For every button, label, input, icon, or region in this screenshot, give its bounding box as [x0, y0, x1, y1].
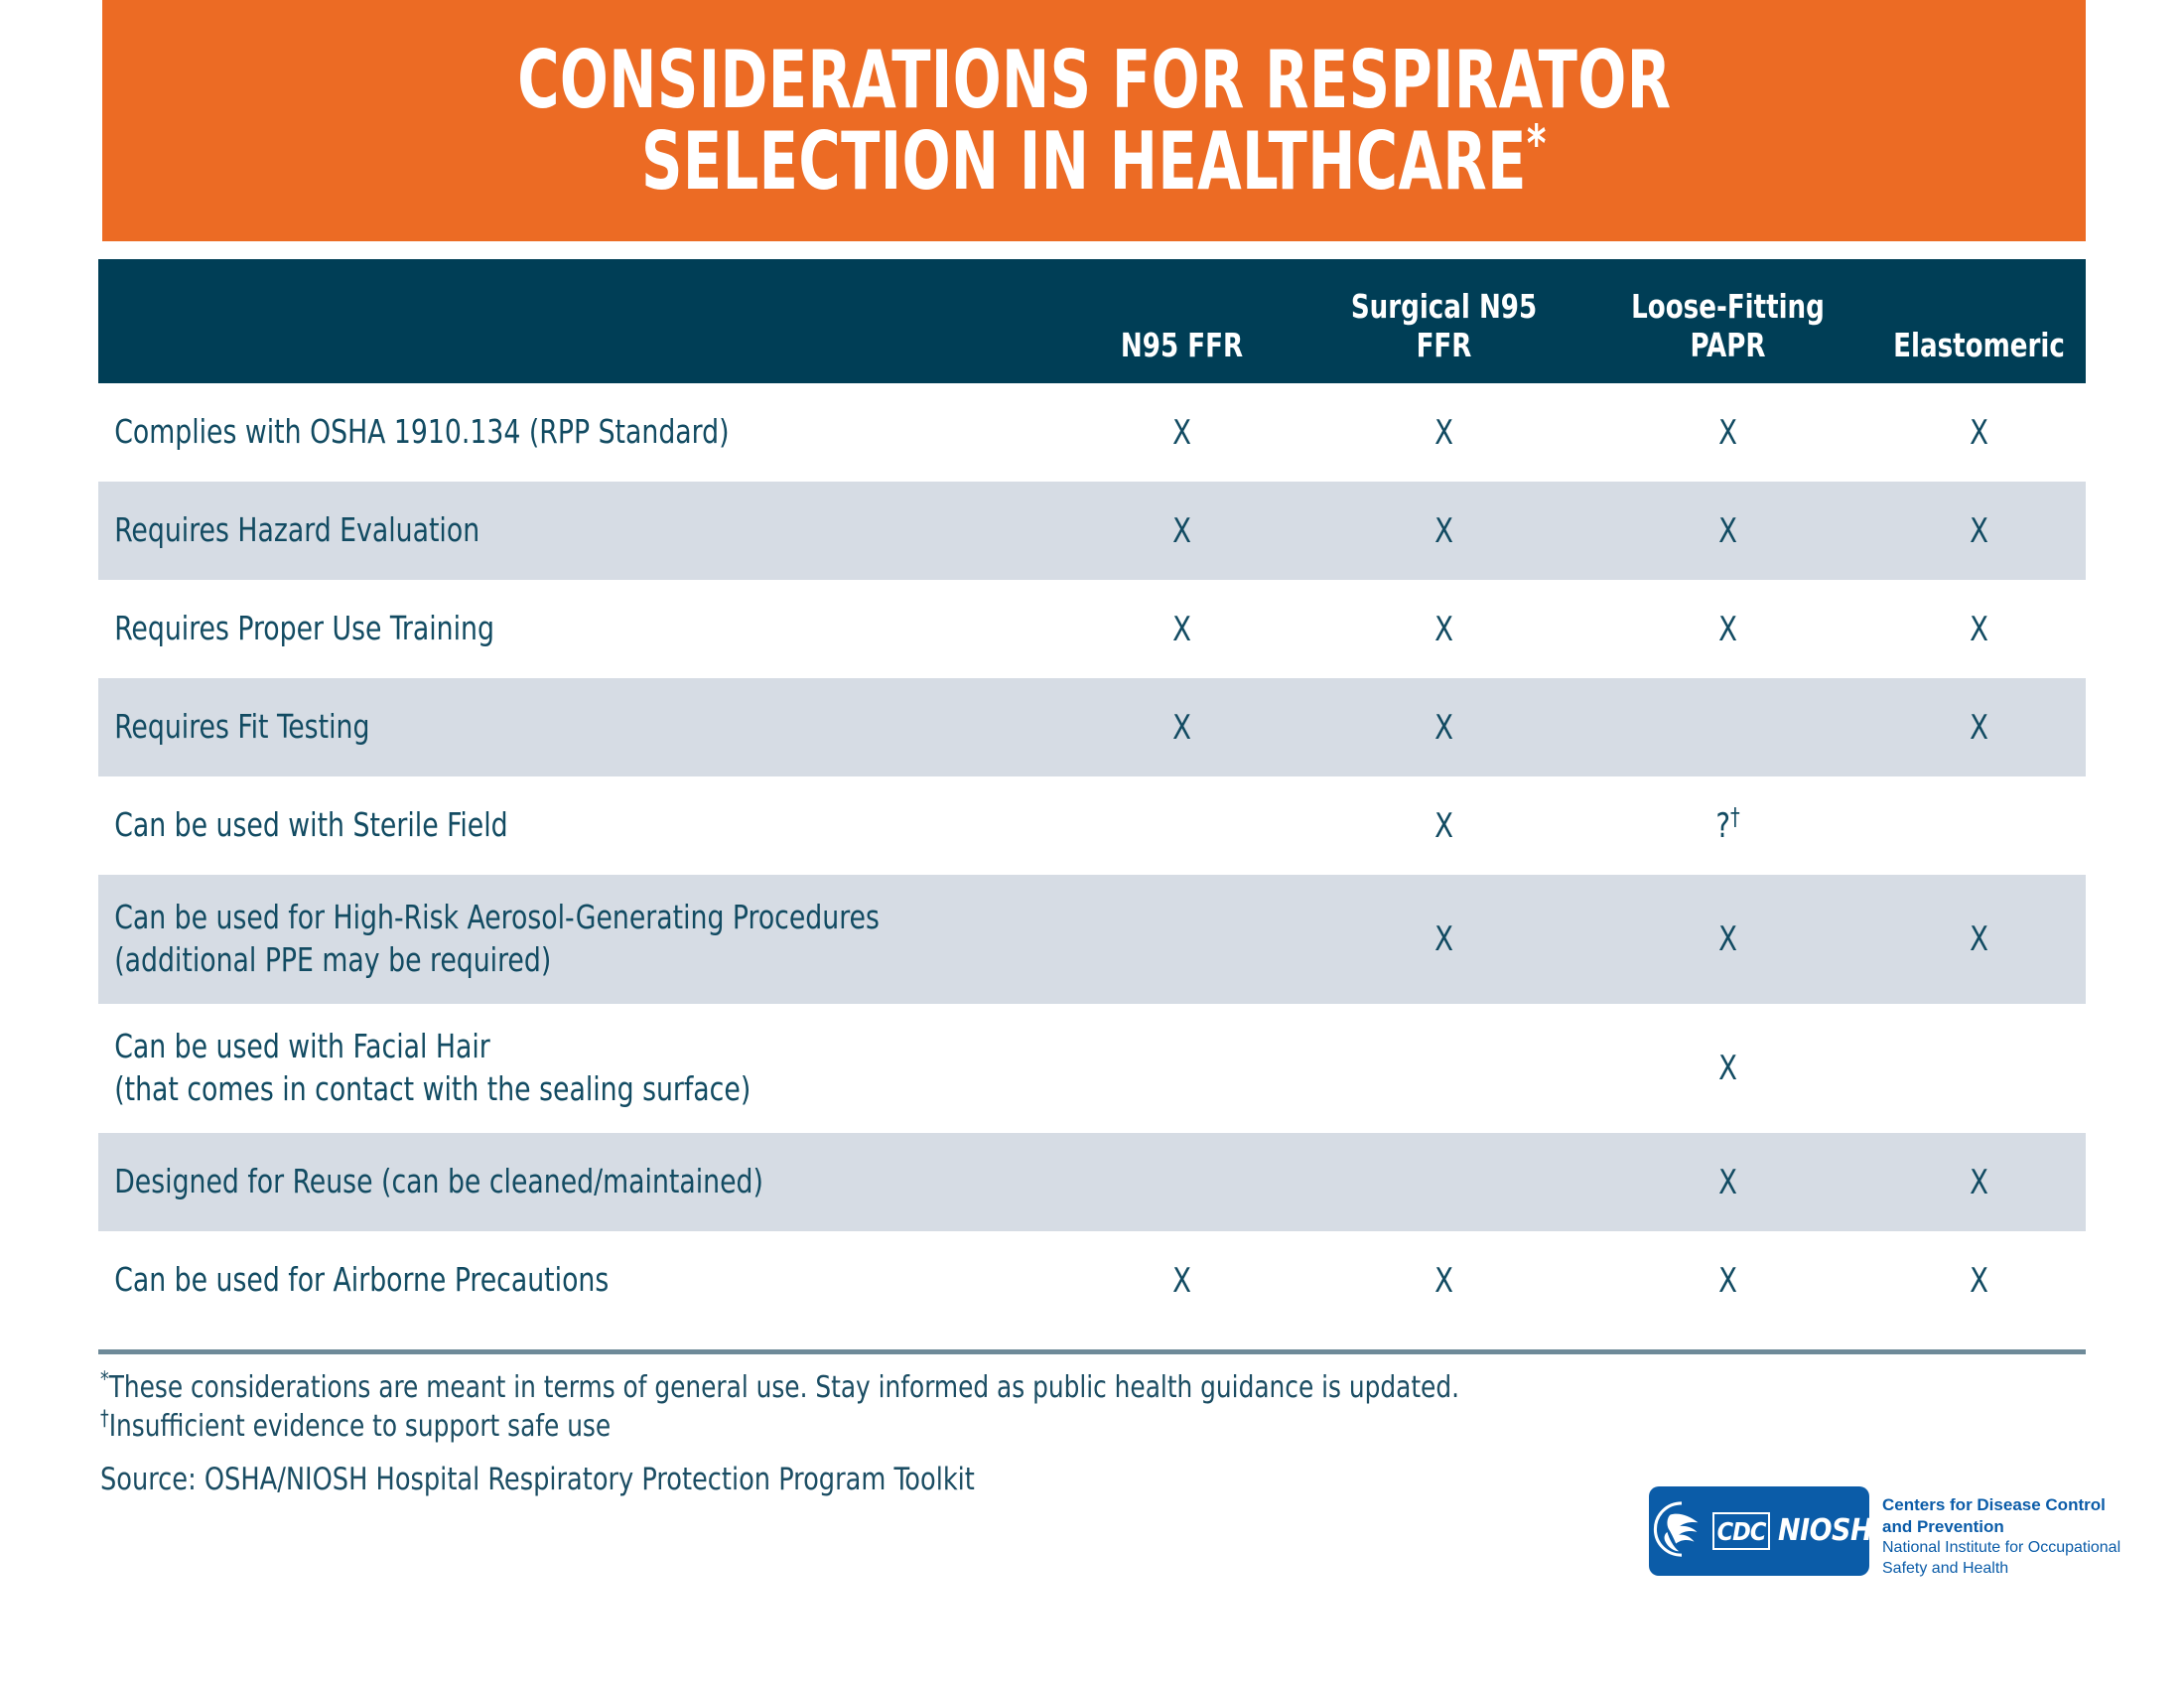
row-label: Requires Proper Use Training — [98, 608, 963, 650]
cell-n95-ffr: X — [1071, 1264, 1292, 1298]
cell-elastomeric: X — [1883, 514, 2076, 548]
cell-surgical-n95-ffr: X — [1318, 613, 1570, 646]
footnotes: *These considerations are meant in terms… — [100, 1368, 1470, 1446]
column-header-elastomeric: Elastomeric — [1885, 327, 2073, 383]
row-label: Can be used with Facial Hair (that comes… — [98, 1026, 963, 1111]
table-row: Can be used for High-Risk Aerosol-Genera… — [98, 875, 2086, 1004]
infographic-page: CONSIDERATIONS FOR RESPIRATOR SELECTION … — [0, 0, 2184, 1688]
title-banner: CONSIDERATIONS FOR RESPIRATOR SELECTION … — [102, 0, 2086, 241]
row-label: Requires Hazard Evaluation — [98, 509, 963, 552]
logo-text-line-1: Centers for Disease Control — [1882, 1494, 2120, 1516]
cell-n95-ffr: X — [1071, 514, 1292, 548]
row-label: Designed for Reuse (can be cleaned/maint… — [98, 1161, 963, 1203]
cell-n95-ffr: X — [1071, 416, 1292, 450]
logo-text-line-4: Safety and Health — [1882, 1559, 2120, 1580]
title-asterisk: * — [1527, 114, 1547, 174]
niosh-wordmark: NIOSH — [1778, 1516, 1869, 1546]
comparison-table: N95 FFR Surgical N95 FFR Loose-Fitting P… — [98, 259, 2086, 1330]
table-header-row: N95 FFR Surgical N95 FFR Loose-Fitting P… — [98, 259, 2086, 383]
cell-elastomeric: X — [1883, 613, 2076, 646]
cell-loose-fitting-papr: X — [1598, 1052, 1858, 1085]
logo-text-line-3: National Institute for Occupational — [1882, 1538, 2120, 1559]
cell-loose-fitting-papr: X — [1598, 922, 1858, 956]
table-row: Can be used with Facial Hair (that comes… — [98, 1004, 2086, 1133]
title-line-2-text: SELECTION IN HEALTHCARE — [641, 115, 1527, 208]
footnote-dagger-text: Insufficient evidence to support safe us… — [109, 1409, 611, 1444]
row-label: Complies with OSHA 1910.134 (RPP Standar… — [98, 411, 963, 454]
column-header-surgical-n95-ffr: Surgical N95 FFR — [1321, 288, 1567, 383]
table-row: Requires Hazard Evaluation X X X X — [98, 482, 2086, 580]
row-label: Requires Fit Testing — [98, 706, 963, 749]
row-label: Can be used with Sterile Field — [98, 804, 963, 847]
cell-n95-ffr: X — [1071, 711, 1292, 745]
cell-loose-fitting-papr: X — [1598, 613, 1858, 646]
footnote-asterisk-text: These considerations are meant in terms … — [109, 1370, 1459, 1405]
cell-loose-fitting-papr: X — [1598, 1166, 1858, 1199]
logo-text-line-2: and Prevention — [1882, 1516, 2120, 1538]
table-row: Designed for Reuse (can be cleaned/maint… — [98, 1133, 2086, 1231]
cell-surgical-n95-ffr: X — [1318, 711, 1570, 745]
column-header-loose-fitting-papr: Loose-Fitting PAPR — [1600, 288, 1854, 383]
logo-agency-text: Centers for Disease Control and Preventi… — [1882, 1486, 2120, 1580]
row-label: Can be used for High-Risk Aerosol-Genera… — [98, 897, 963, 982]
cdc-wordmark-box: CDC — [1712, 1512, 1770, 1550]
title-line-2: SELECTION IN HEALTHCARE* — [641, 121, 1547, 203]
cell-n95-ffr: X — [1071, 613, 1292, 646]
cell-loose-fitting-papr: X — [1598, 1264, 1858, 1298]
cell-elastomeric: X — [1883, 922, 2076, 956]
cell-surgical-n95-ffr: X — [1318, 514, 1570, 548]
hhs-eagle-icon — [1653, 1500, 1710, 1562]
cell-loose-fitting-papr: X — [1598, 416, 1858, 450]
cell-surgical-n95-ffr: X — [1318, 1264, 1570, 1298]
table-row: Requires Fit Testing X X X — [98, 678, 2086, 776]
cdc-wordmark: CDC — [1717, 1519, 1766, 1544]
table-row: Can be used with Sterile Field X ?† — [98, 776, 2086, 875]
footnote-asterisk: *These considerations are meant in terms… — [100, 1368, 1470, 1407]
cell-elastomeric: X — [1883, 1166, 2076, 1199]
cell-surgical-n95-ffr: X — [1318, 809, 1570, 843]
footnote-dagger: †Insufficient evidence to support safe u… — [100, 1407, 1470, 1446]
cell-loose-fitting-papr: X — [1598, 514, 1858, 548]
cell-surgical-n95-ffr: X — [1318, 416, 1570, 450]
title-line-1: CONSIDERATIONS FOR RESPIRATOR — [517, 40, 1671, 121]
logo-badge: CDC NIOSH — [1649, 1486, 1869, 1576]
table-row: Can be used for Airborne Precautions X X… — [98, 1231, 2086, 1330]
cell-elastomeric: X — [1883, 711, 2076, 745]
table-row: Complies with OSHA 1910.134 (RPP Standar… — [98, 383, 2086, 482]
cdc-niosh-logo: CDC NIOSH Centers for Disease Control an… — [1649, 1486, 2120, 1580]
cell-elastomeric: X — [1883, 416, 2076, 450]
dagger-footnote-marker: † — [1730, 802, 1740, 830]
source-line: Source: OSHA/NIOSH Hospital Respiratory … — [100, 1462, 975, 1498]
uncertain-mark: ? — [1715, 806, 1730, 846]
table-bottom-rule — [98, 1349, 2086, 1354]
table-row: Requires Proper Use Training X X X X — [98, 580, 2086, 678]
cell-elastomeric: X — [1883, 1264, 2076, 1298]
cell-surgical-n95-ffr: X — [1318, 922, 1570, 956]
cell-loose-fitting-papr: ?† — [1598, 809, 1858, 843]
column-header-n95-ffr: N95 FFR — [1074, 327, 1290, 383]
row-label: Can be used for Airborne Precautions — [98, 1259, 963, 1302]
